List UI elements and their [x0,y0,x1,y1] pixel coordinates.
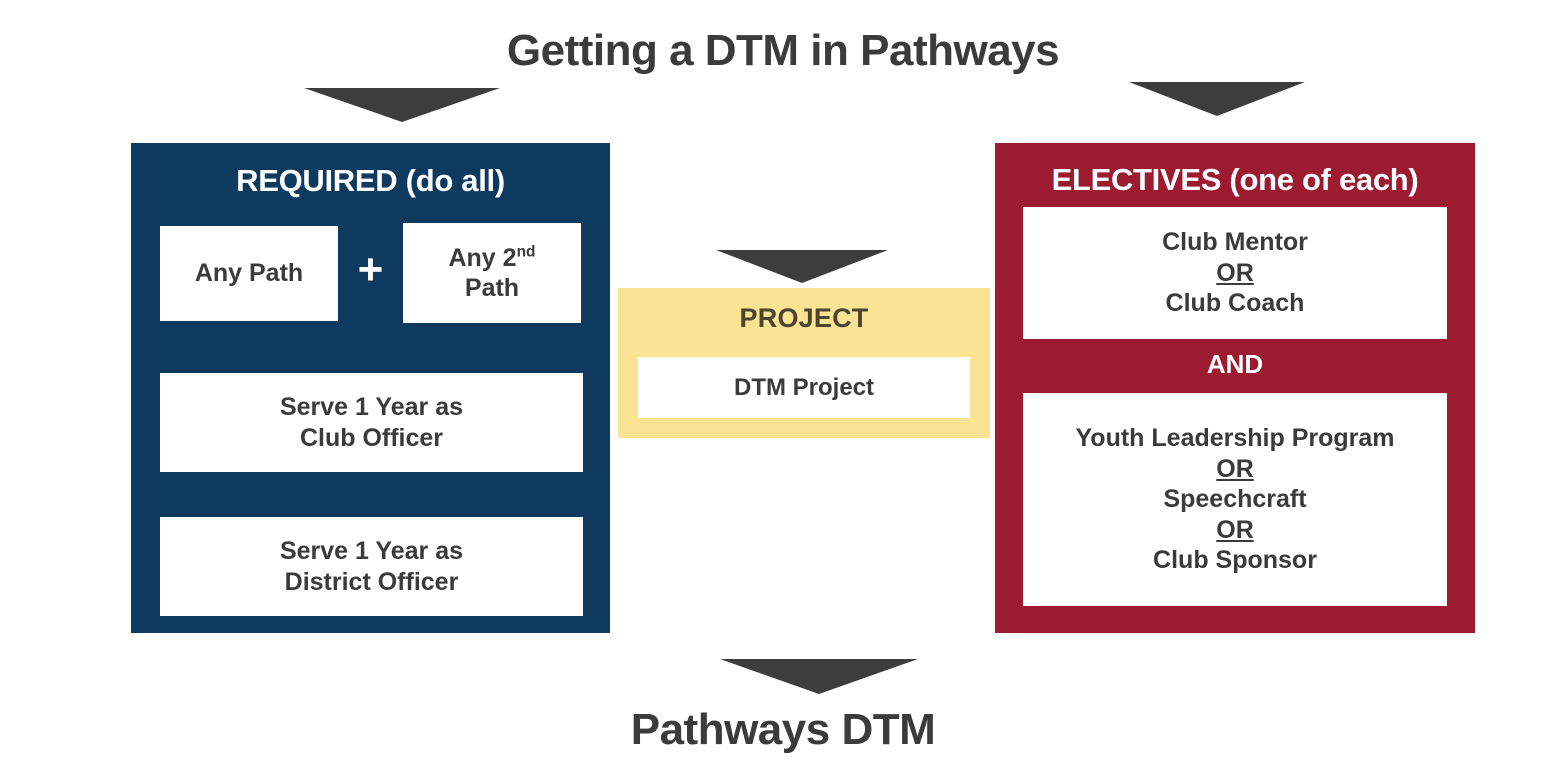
down-arrow-to-required [304,88,500,122]
page-title: Getting a DTM in Pathways [0,26,1566,76]
box-serve-district-officer: Serve 1 Year as District Officer [160,517,583,616]
elective-club-coach: Club Coach [1166,288,1305,319]
any-second-path-main: Any 2 [448,244,516,272]
any-second-path-ordinal: nd [517,243,536,260]
result-label: Pathways DTM [0,705,1566,755]
district-officer-line1: Serve 1 Year as [280,536,463,567]
down-arrow-to-electives [1129,82,1305,116]
any-second-path-line1: Any 2nd [448,243,535,274]
plus-icon: + [358,248,384,298]
project-panel: PROJECT DTM Project [618,288,990,438]
district-officer-line2: District Officer [280,567,463,598]
elective-club-mentor: Club Mentor [1162,227,1308,258]
electives-panel-heading: ELECTIVES (one of each) [995,162,1475,198]
elective-or-connector: OR [1216,258,1254,289]
electives-panel: ELECTIVES (one of each) Club Mentor OR C… [995,143,1475,633]
down-arrow-to-result [720,659,918,694]
box-any-path: Any Path [160,226,338,321]
required-panel-heading: REQUIRED (do all) [131,163,610,199]
elective-club-sponsor: Club Sponsor [1153,545,1317,576]
any-path-label: Any Path [195,258,303,289]
elective-youth-leadership-program: Youth Leadership Program [1075,423,1394,454]
box-serve-club-officer: Serve 1 Year as Club Officer [160,373,583,472]
down-arrow-to-project [716,250,888,283]
box-dtm-project: DTM Project [638,357,970,418]
electives-and-connector: AND [995,349,1475,380]
paths-row: Any Path + Any 2nd Path [160,223,581,323]
box-electives-group-2: Youth Leadership Program OR Speechcraft … [1023,393,1447,606]
project-panel-heading: PROJECT [618,303,990,334]
required-panel: REQUIRED (do all) Any Path + Any 2nd Pat… [131,143,610,633]
elective-or-connector-1: OR [1216,454,1254,485]
any-second-path-line2: Path [465,273,519,304]
club-officer-line1: Serve 1 Year as [280,392,463,423]
box-any-second-path: Any 2nd Path [403,223,581,323]
dtm-project-label: DTM Project [734,373,874,402]
elective-or-connector-2: OR [1216,515,1254,546]
box-electives-group-1: Club Mentor OR Club Coach [1023,207,1447,339]
club-officer-line2: Club Officer [280,423,463,454]
elective-speechcraft: Speechcraft [1163,484,1306,515]
